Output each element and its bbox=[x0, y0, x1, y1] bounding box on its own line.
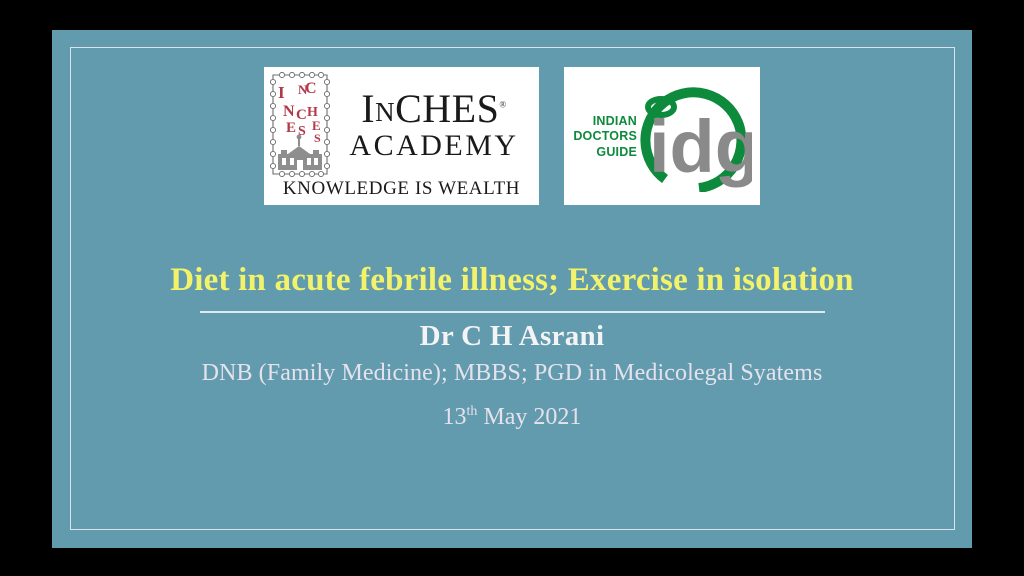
registered-trademark-icon: ® bbox=[499, 99, 506, 109]
inches-wordmark: INCHES® ACADEMY bbox=[335, 89, 533, 161]
idg-word-line-3: GUIDE bbox=[571, 145, 637, 160]
event-date-rest: May 2021 bbox=[477, 404, 581, 430]
svg-text:N: N bbox=[283, 103, 295, 120]
inches-brand-name: INCHES® bbox=[361, 89, 506, 129]
svg-text:idg: idg bbox=[649, 105, 752, 188]
idg-word-line-1: INDIAN bbox=[571, 114, 637, 129]
svg-text:E: E bbox=[286, 120, 296, 136]
speaker-name: Dr C H Asrani bbox=[52, 320, 972, 353]
idg-logo: INDIAN DOCTORS GUIDE idg bbox=[564, 67, 760, 205]
event-date-day: 13 bbox=[443, 404, 467, 430]
speaker-credentials: DNB (Family Medicine); MBBS; PGD in Medi… bbox=[52, 360, 972, 387]
inches-logo-top: I N C N C H E S E S bbox=[270, 71, 533, 178]
inches-stamp-icon: I N C N C H E S E S bbox=[270, 72, 330, 177]
logo-row: I N C N C H E S E S bbox=[52, 67, 972, 205]
idg-circle-monogram-icon: idg bbox=[637, 80, 752, 192]
svg-text:I: I bbox=[278, 83, 285, 102]
event-date-ordinal: th bbox=[467, 404, 478, 419]
inches-tagline: KNOWLEDGE IS WEALTH bbox=[270, 178, 533, 200]
svg-text:C: C bbox=[296, 107, 307, 123]
svg-text:S: S bbox=[314, 131, 321, 145]
svg-text:C: C bbox=[305, 80, 317, 97]
idg-logo-inner: INDIAN DOCTORS GUIDE idg bbox=[569, 72, 755, 200]
presentation-slide: I N C N C H E S E S bbox=[52, 30, 972, 548]
inches-brand-rest: CHES bbox=[395, 86, 499, 131]
inches-academy-word: ACADEMY bbox=[349, 131, 518, 161]
idg-wordmark: INDIAN DOCTORS GUIDE bbox=[571, 114, 637, 160]
inches-small-cap-n: N bbox=[375, 97, 395, 127]
slide-title: Diet in acute febrile illness; Exercise … bbox=[52, 262, 972, 299]
event-date: 13th May 2021 bbox=[52, 404, 972, 431]
idg-word-line-2: DOCTORS bbox=[571, 129, 637, 144]
inches-academy-logo: I N C N C H E S E S bbox=[264, 67, 539, 205]
screenshot-canvas: I N C N C H E S E S bbox=[0, 0, 1024, 576]
title-divider bbox=[200, 311, 825, 313]
